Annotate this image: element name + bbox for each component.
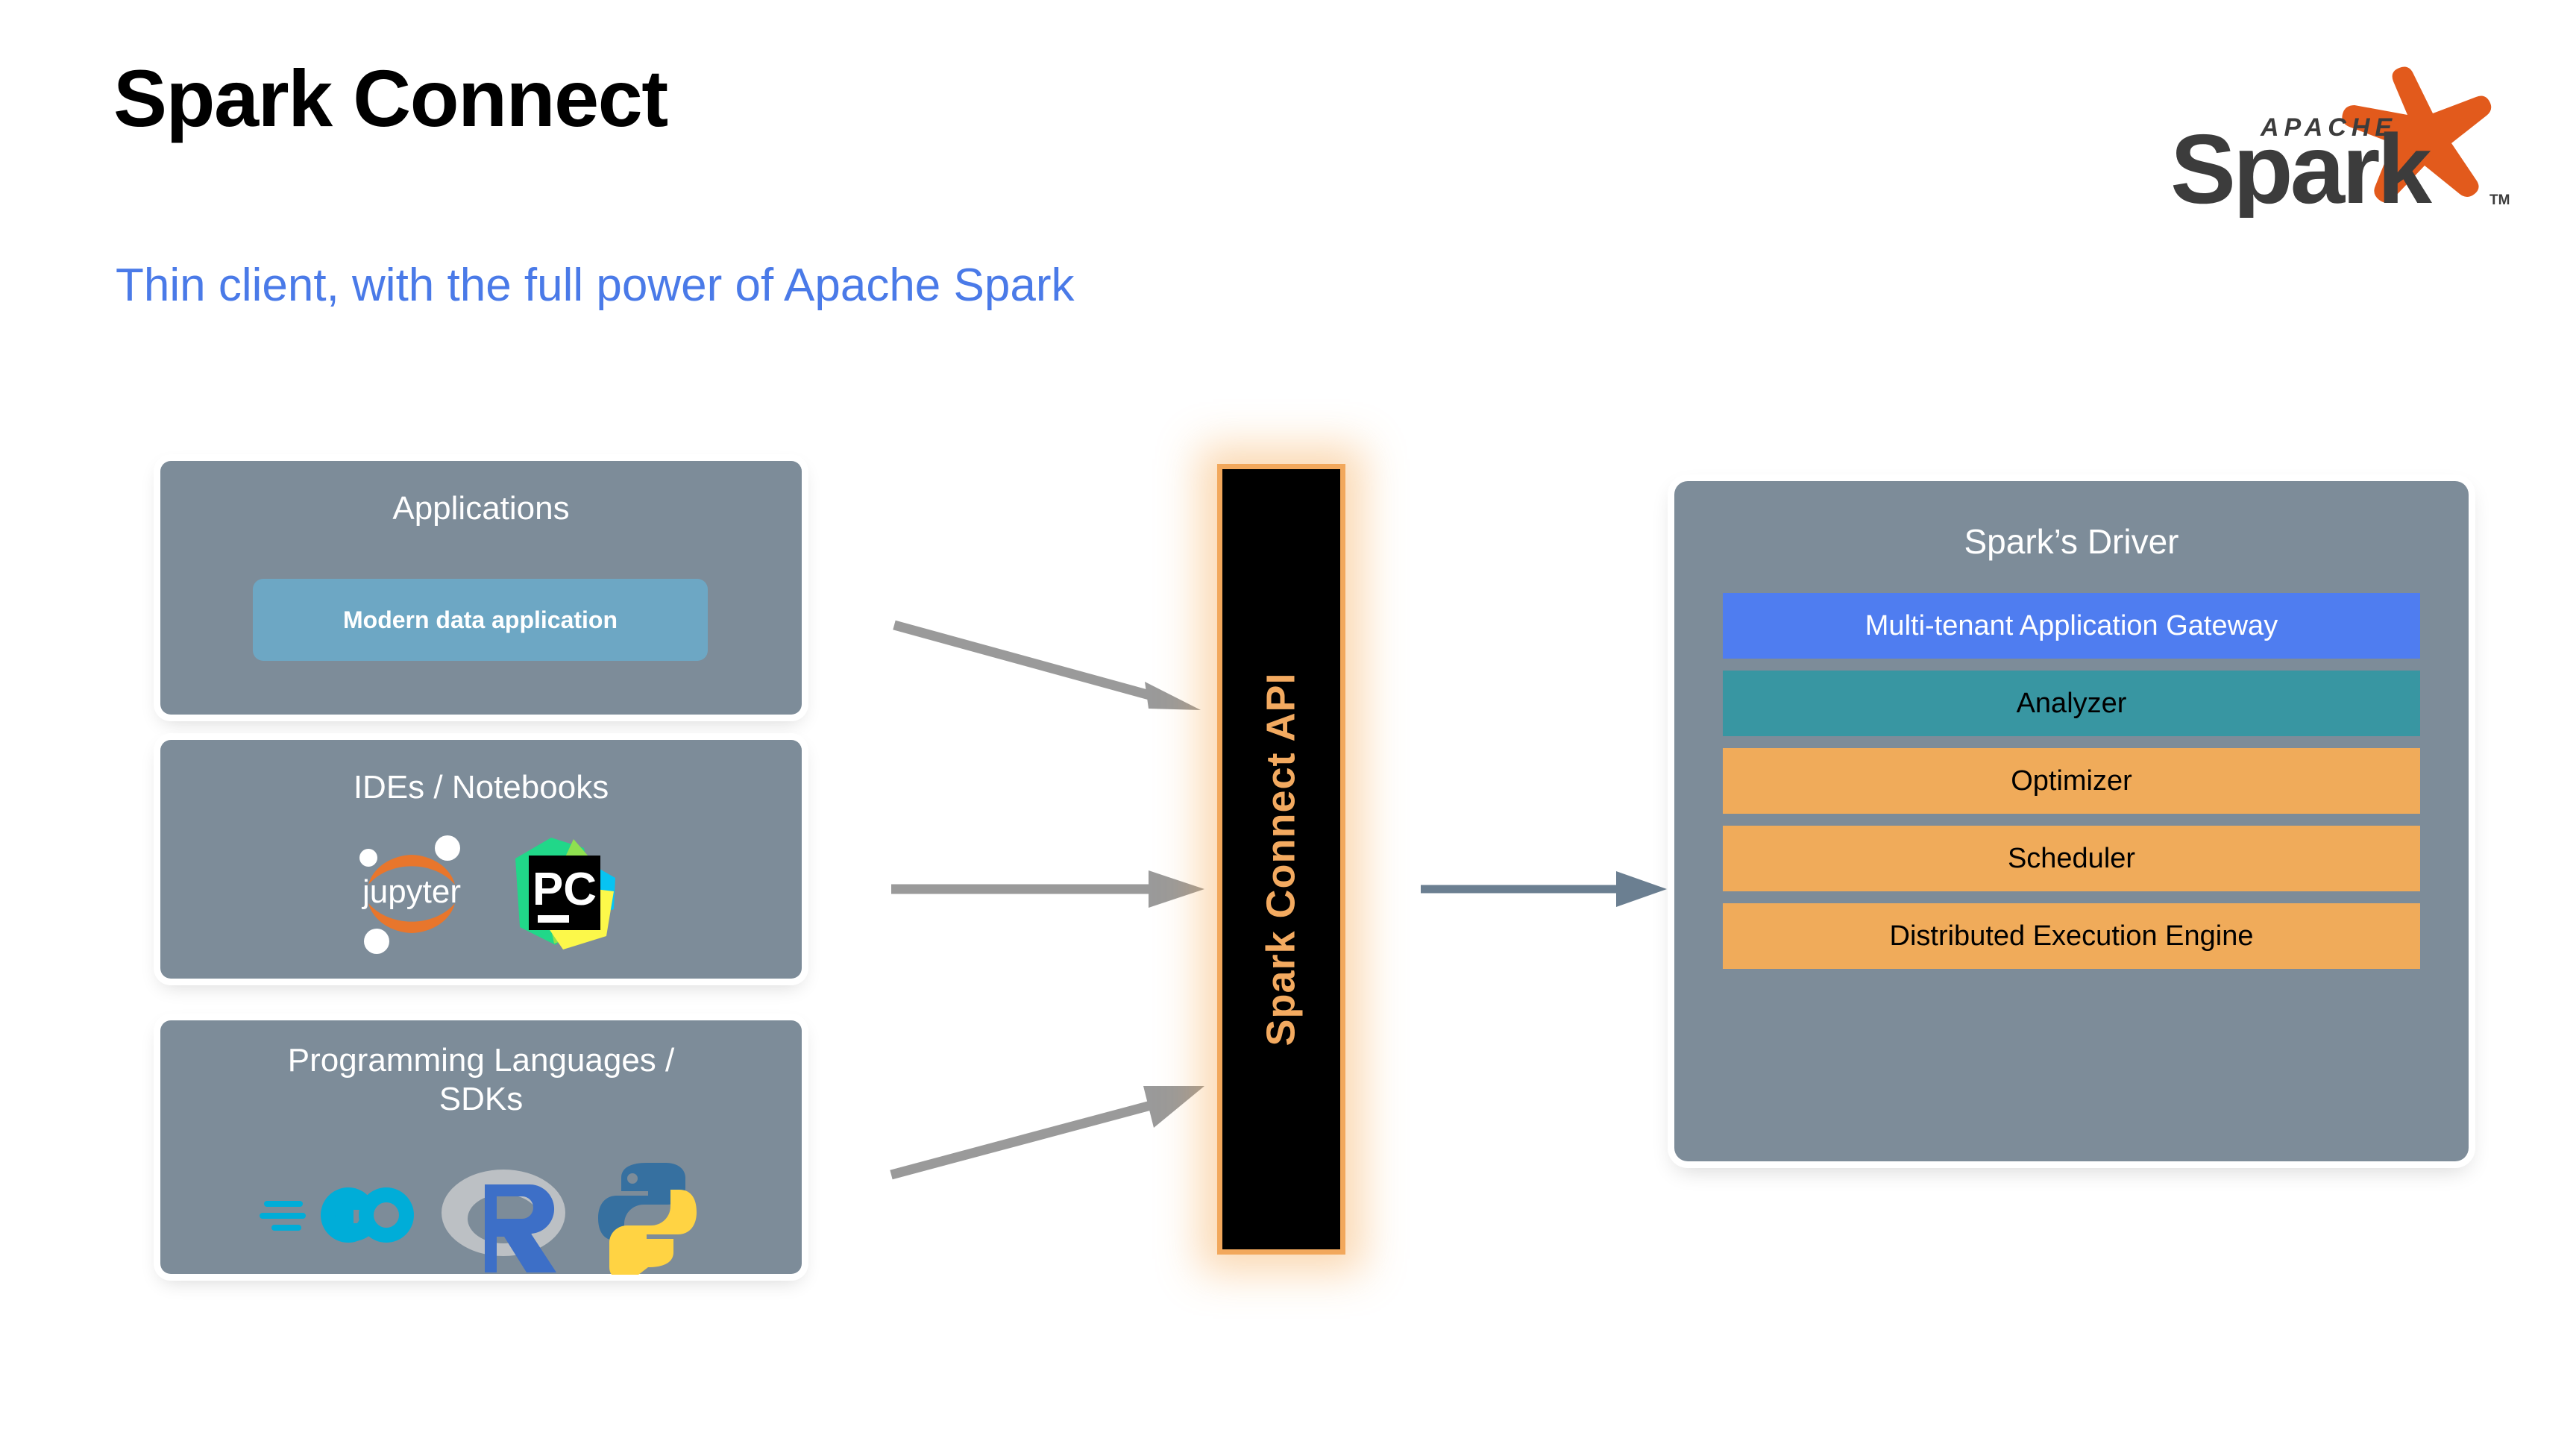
go-logo <box>260 1174 416 1256</box>
trademark-symbol: TM <box>2489 192 2510 208</box>
client-card-applications[interactable]: Applications Modern data application <box>160 461 802 715</box>
page-title: Spark Connect <box>113 58 667 139</box>
ide-logo-row: jupyter PC <box>160 829 802 956</box>
arrow-api-to-driver <box>1421 867 1667 911</box>
jupyter-logo: jupyter <box>341 829 483 956</box>
client-card-programming-languages[interactable]: Programming Languages / SDKs <box>160 1020 802 1274</box>
arrow-applications-to-api <box>891 618 1204 715</box>
spark-connect-api-bar[interactable]: Spark Connect API <box>1217 464 1345 1255</box>
client-card-ides-notebooks[interactable]: IDEs / Notebooks jupyter PC <box>160 740 802 979</box>
driver-panel-title: Spark’s Driver <box>1674 521 2469 562</box>
spark-connect-api-label: Spark Connect API <box>1258 672 1304 1046</box>
card-title-line-2: SDKs <box>160 1080 802 1119</box>
driver-row-gateway[interactable]: Multi-tenant Application Gateway <box>1723 593 2420 659</box>
page-subtitle: Thin client, with the full power of Apac… <box>116 263 1074 309</box>
card-title-line-1: Programming Languages / <box>160 1041 802 1080</box>
pycharm-logo: PC <box>502 832 621 955</box>
python-logo <box>591 1155 703 1275</box>
r-logo <box>439 1153 569 1276</box>
apache-spark-logo: APACHE Spark TM <box>2145 16 2533 218</box>
arrow-languages-to-api <box>891 1059 1204 1178</box>
spark-driver-panel[interactable]: Spark’s Driver Multi-tenant Application … <box>1674 481 2469 1161</box>
driver-component-list: Multi-tenant Application Gateway Analyze… <box>1723 593 2420 969</box>
driver-row-scheduler[interactable]: Scheduler <box>1723 826 2420 891</box>
jupyter-wordmark: jupyter <box>361 873 461 910</box>
card-title-applications: Applications <box>160 489 802 528</box>
language-logo-row <box>160 1153 802 1276</box>
modern-data-application-box[interactable]: Modern data application <box>253 579 708 661</box>
card-title-programming-languages: Programming Languages / SDKs <box>160 1041 802 1119</box>
driver-row-optimizer[interactable]: Optimizer <box>1723 748 2420 814</box>
driver-row-execution-engine[interactable]: Distributed Execution Engine <box>1723 903 2420 969</box>
card-title-ides-notebooks: IDEs / Notebooks <box>160 768 802 807</box>
arrow-ides-to-api <box>891 867 1204 911</box>
pycharm-wordmark: PC <box>533 864 597 915</box>
driver-row-analyzer[interactable]: Analyzer <box>1723 671 2420 736</box>
spark-wordmark: Spark <box>2170 114 2432 218</box>
